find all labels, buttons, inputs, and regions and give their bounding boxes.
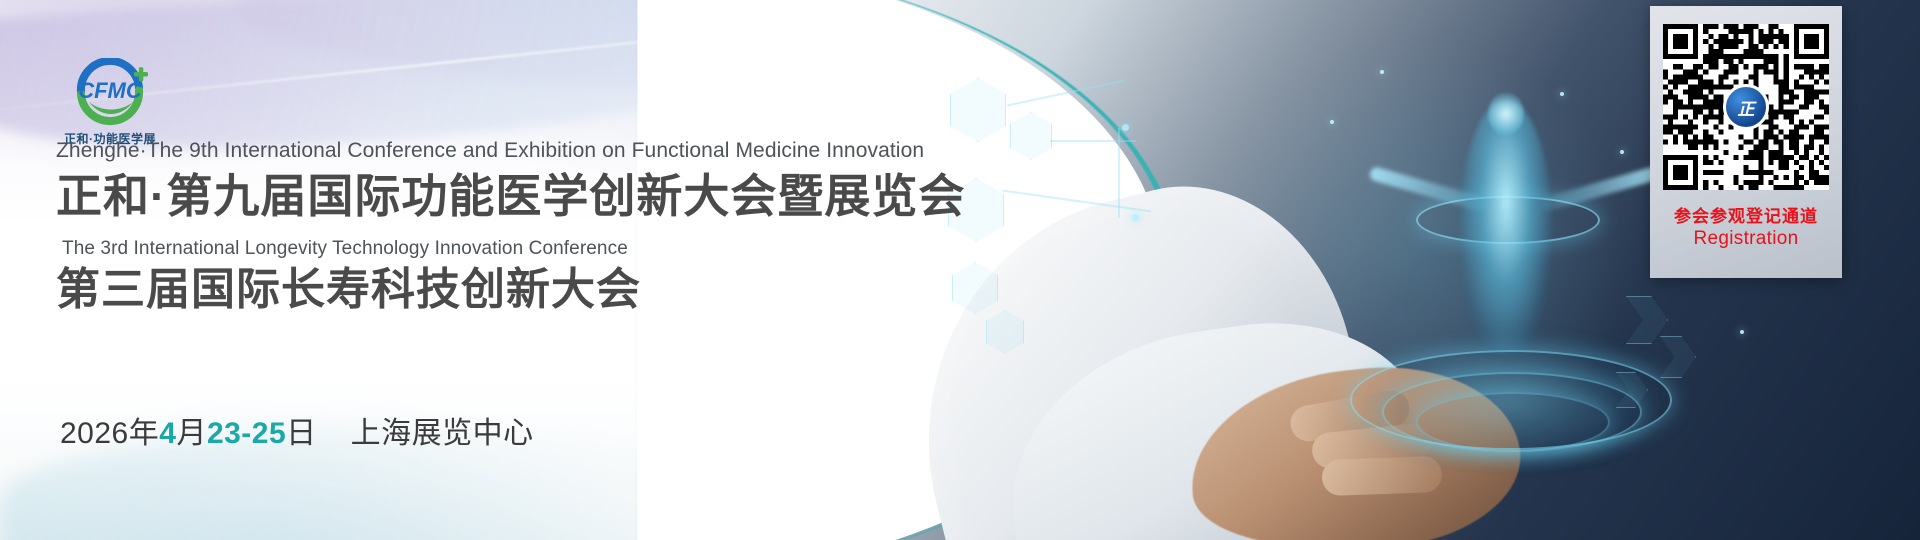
hud-connector-line xyxy=(1050,140,1136,142)
particle-spark xyxy=(1740,330,1744,334)
event-day-unit: 日 xyxy=(286,417,317,450)
chinese-secondary-title: 第三届国际长寿科技创新大会 xyxy=(56,264,956,317)
cfmc-logo-wordmark: CFMC xyxy=(78,78,143,103)
event-year: 2026年 xyxy=(60,417,159,450)
event-month: 4 xyxy=(159,417,176,450)
english-primary-title: Zhenghe·The 9th International Conference… xyxy=(56,138,956,164)
zhenghe-qr-center-logo: 正 xyxy=(1723,84,1769,130)
registration-caption-en: Registration xyxy=(1650,228,1842,250)
chinese-primary-title: 正和·第九届国际功能医学创新大会暨展览会 xyxy=(56,168,956,224)
cfmc-logo-svg: CFMC xyxy=(67,58,153,128)
particle-spark xyxy=(1380,70,1384,74)
hud-node-dot xyxy=(1132,214,1139,221)
event-days: 23-25 xyxy=(207,417,286,450)
cfmc-logo[interactable]: CFMC 正和·功能医学展 xyxy=(52,58,168,150)
cfmc-logo-mark: CFMC xyxy=(67,58,153,128)
hud-arrow-icon xyxy=(1660,336,1696,378)
conference-banner: CFMC 正和·功能医学展 Zhenghe·The 9th Internatio… xyxy=(0,0,1920,540)
hud-connector-line xyxy=(1118,128,1120,218)
qr-code-box[interactable]: 正 xyxy=(1663,24,1829,190)
particle-spark xyxy=(1560,92,1564,96)
hologram-ring xyxy=(1416,392,1610,452)
event-month-unit: 月 xyxy=(176,417,207,450)
hologram-human-head xyxy=(1488,92,1524,136)
headline-block: Zhenghe·The 9th International Conference… xyxy=(56,138,956,317)
particle-spark xyxy=(1330,120,1334,124)
hud-node-dot xyxy=(1122,124,1129,131)
particle-spark xyxy=(1620,150,1624,154)
hologram-human-body xyxy=(1460,100,1552,355)
registration-qr-panel[interactable]: 正 参会参观登记通道 Registration xyxy=(1650,6,1842,278)
event-venue: 上海展览中心 xyxy=(351,417,534,450)
event-date-venue: 2026年4月23-25日上海展览中心 xyxy=(60,408,534,452)
registration-caption-cn: 参会参观登记通道 xyxy=(1650,202,1842,227)
english-secondary-title: The 3rd International Longevity Technolo… xyxy=(62,238,956,260)
